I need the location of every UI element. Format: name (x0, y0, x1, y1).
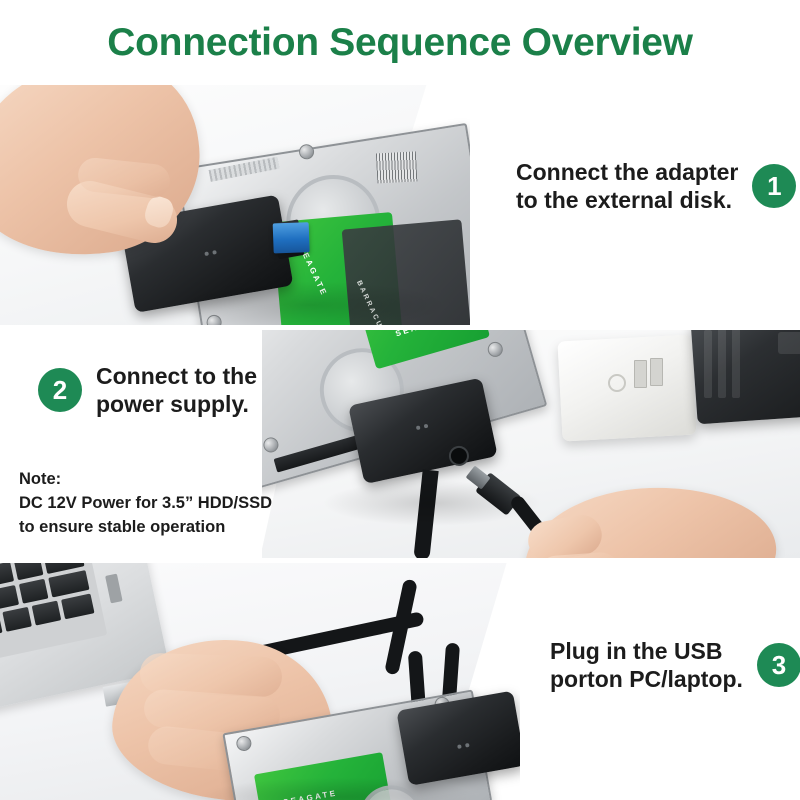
step-3-line-2: porton PC/laptop. (550, 665, 743, 693)
step-3-photo: SEAGATE (0, 563, 520, 800)
step-panel-2: SEAGATE (0, 330, 800, 558)
step-2-line-2: power supply. (96, 390, 257, 418)
step-3-line-1: Plug in the USB (550, 638, 723, 664)
step-1-badge: 1 (752, 164, 796, 208)
step-3-text: Plug in the USB porton PC/laptop. 3 (550, 637, 800, 693)
step-1-line-2: to the external disk. (516, 186, 738, 214)
hand (494, 478, 794, 558)
usb-hub (560, 338, 700, 456)
step-2-badge: 2 (38, 368, 82, 412)
step-1-text: Connect the adapter to the external disk… (516, 158, 796, 214)
step-1-photo: SEAGATE BARRACUDA (0, 85, 470, 325)
step-3-instruction: Plug in the USB porton PC/laptop. (550, 637, 743, 693)
page-title: Connection Sequence Overview (107, 21, 692, 65)
power-supply-brick (694, 330, 800, 438)
note-line-3: to ensure stable operation (19, 516, 272, 540)
step-2-line-1: Connect to the (96, 363, 257, 389)
hdd-barcode (376, 151, 418, 183)
step-panel-3: SEAGATE Plug in the USB porton PC/laptop… (0, 563, 800, 800)
step-2-instruction: Connect to the power supply. (96, 362, 257, 418)
note-line-1: Note: (19, 468, 272, 492)
step-panel-1: SEAGATE BARRACUDA (0, 85, 800, 325)
step-1-instruction: Connect the adapter to the external disk… (516, 158, 738, 214)
step-3-badge: 3 (757, 643, 800, 687)
hand (0, 85, 220, 275)
title-bar: Connection Sequence Overview (0, 0, 800, 85)
note-line-2: DC 12V Power for 3.5” HDD/SSD (19, 492, 272, 516)
step-2-note: Note: DC 12V Power for 3.5” HDD/SSD to e… (19, 468, 272, 540)
step-1-line-1: Connect the adapter (516, 159, 738, 185)
infographic-page: Connection Sequence Overview SEAGATE BAR… (0, 0, 800, 800)
step-2-text: 2 Connect to the power supply. (38, 362, 257, 418)
step-2-photo: SEAGATE (262, 330, 800, 558)
